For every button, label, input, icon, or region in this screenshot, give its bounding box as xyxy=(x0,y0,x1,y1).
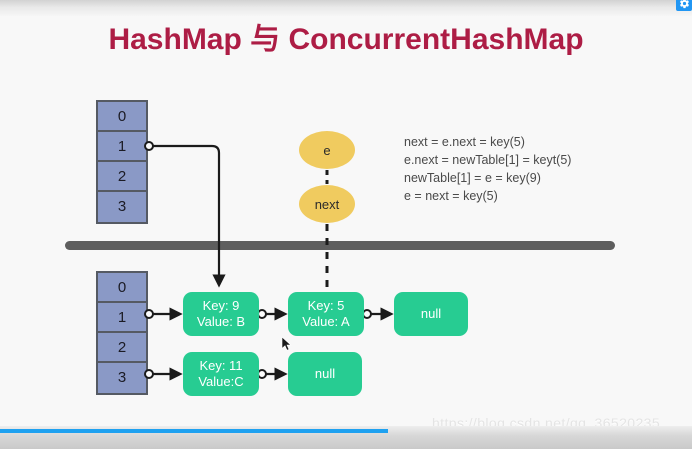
node-null-bottom: null xyxy=(288,352,362,396)
new-table-cell-3: 3 xyxy=(98,363,146,393)
section-divider xyxy=(65,241,615,250)
code-line-3: newTable[1] = e = key(9) xyxy=(404,169,571,187)
node-key-9: Key: 9 Value: B xyxy=(183,292,259,336)
node-key-5-key: Key: 5 xyxy=(308,298,345,314)
slide-canvas: HashMap 与 ConcurrentHashMap 0 1 2 3 0 1 … xyxy=(0,0,692,449)
page-title: HashMap 与 ConcurrentHashMap xyxy=(0,14,692,58)
old-table-array: 0 1 2 3 xyxy=(96,100,148,224)
node-key-11-key: Key: 11 xyxy=(199,358,242,374)
new-table-cell-0: 0 xyxy=(98,273,146,303)
code-line-1: next = e.next = key(5) xyxy=(404,133,571,151)
node-null-bottom-label: null xyxy=(315,366,335,382)
node-key-11-value: Value:C xyxy=(198,374,243,390)
old-table-cell-1: 1 xyxy=(98,132,146,162)
video-progress-fill xyxy=(0,429,388,433)
old-table-cell-2: 2 xyxy=(98,162,146,192)
pointer-next-label: next xyxy=(315,197,340,212)
code-annotation: next = e.next = key(5) e.next = newTable… xyxy=(404,133,571,205)
pointer-next-ellipse: next xyxy=(299,185,355,223)
pointer-e-ellipse: e xyxy=(299,131,355,169)
new-table-cell-2: 2 xyxy=(98,333,146,363)
node-null-top-label: null xyxy=(421,306,441,322)
video-progress-track[interactable] xyxy=(0,426,692,449)
new-table-cell-1: 1 xyxy=(98,303,146,333)
node-key-5-value: Value: A xyxy=(302,314,349,330)
code-line-2: e.next = newTable[1] = keyt(5) xyxy=(404,151,571,169)
mouse-cursor xyxy=(281,336,293,352)
gear-icon[interactable] xyxy=(676,0,692,11)
node-key-5: Key: 5 Value: A xyxy=(288,292,364,336)
node-null-top: null xyxy=(394,292,468,336)
node-key-11: Key: 11 Value:C xyxy=(183,352,259,396)
old-table-cell-3: 3 xyxy=(98,192,146,222)
old-table-cell-0: 0 xyxy=(98,102,146,132)
code-line-4: e = next = key(5) xyxy=(404,187,571,205)
node-key-9-key: Key: 9 xyxy=(203,298,240,314)
node-key-9-value: Value: B xyxy=(197,314,245,330)
pointer-e-label: e xyxy=(323,143,330,158)
new-table-array: 0 1 2 3 xyxy=(96,271,148,395)
